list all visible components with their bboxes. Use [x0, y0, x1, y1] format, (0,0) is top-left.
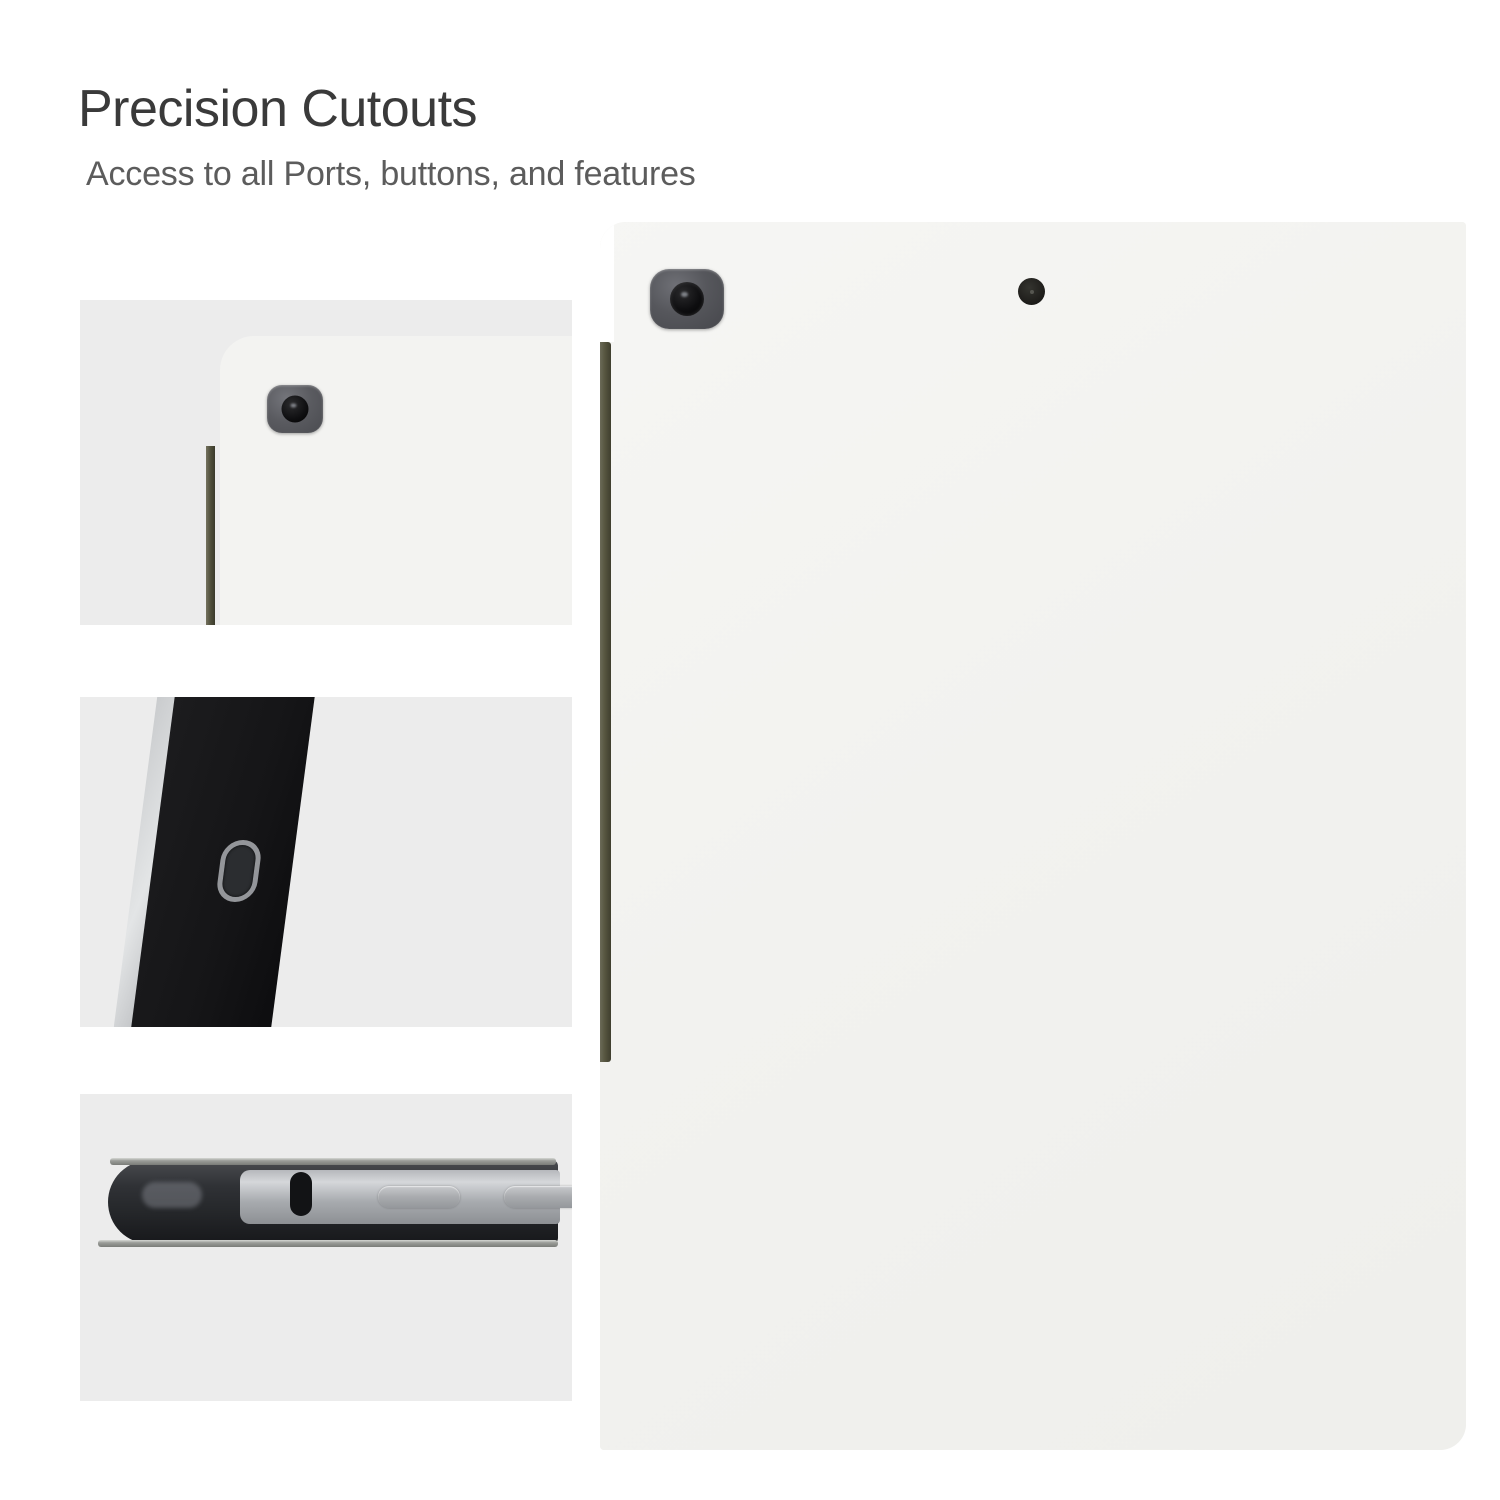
camera-lens-icon: [670, 282, 704, 316]
cover-top-edge: [600, 222, 614, 342]
camera-lens-icon: [282, 396, 309, 423]
lens-glint: [291, 404, 297, 408]
page-subtitle: Access to all Ports, buttons, and featur…: [86, 155, 1278, 194]
power-button-cutout: [290, 1172, 312, 1216]
lens-glint: [681, 292, 688, 297]
cover-edge-bottom: [98, 1240, 558, 1247]
microphone-cutout: [1018, 278, 1045, 305]
leaf-pattern-art: [600, 222, 1466, 1450]
header-block: Precision Cutouts Access to all Ports, b…: [78, 82, 1278, 194]
panel-volume-buttons: [80, 1094, 572, 1401]
shell-highlight: [142, 1182, 202, 1208]
volume-down-button[interactable]: [504, 1186, 572, 1208]
camera-cutout: [650, 269, 724, 329]
buttons-scene: [80, 1094, 572, 1401]
folio-spine: [600, 342, 611, 1062]
leaf-pattern-art: [220, 336, 572, 625]
folio-spine: [206, 446, 215, 625]
camera-cutout: [267, 385, 323, 433]
cover-edge-top: [110, 1158, 556, 1165]
panel-charging-port: [80, 697, 572, 1027]
case-cover-corner: [220, 336, 572, 625]
page-title: Precision Cutouts: [78, 82, 1278, 137]
panel-camera-cutout: [80, 300, 572, 625]
hero-product-image: [600, 222, 1466, 1450]
port-scene: [80, 697, 572, 1027]
microphone-pinhole: [1030, 290, 1034, 294]
volume-up-button[interactable]: [378, 1186, 460, 1208]
